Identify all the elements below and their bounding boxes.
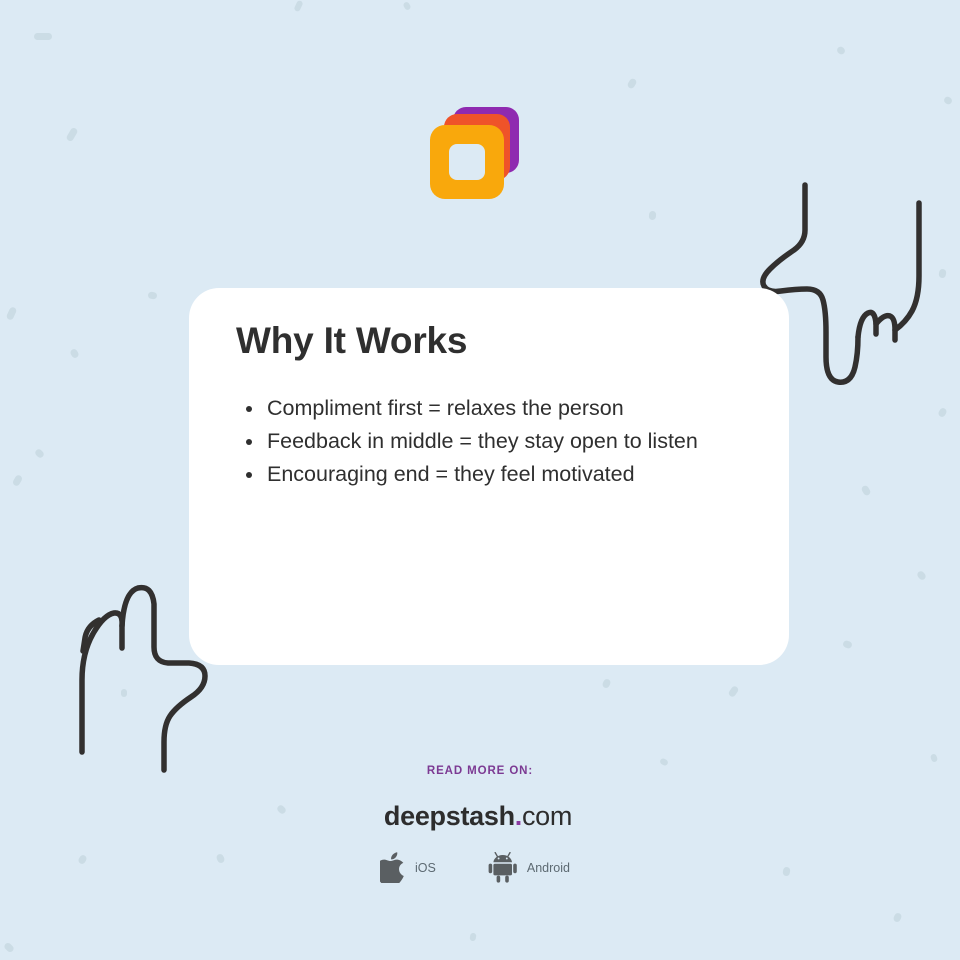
background-speck [943, 95, 954, 105]
background-speck [649, 211, 657, 221]
background-speck [860, 484, 871, 496]
deepstash-logo [425, 103, 525, 198]
background-speck [727, 685, 739, 698]
background-speck [65, 127, 78, 143]
bullet-list: Compliment first = relaxes the person Fe… [237, 392, 772, 491]
ios-badge[interactable]: iOS [380, 852, 436, 883]
background-speck [3, 941, 15, 953]
list-item: Compliment first = relaxes the person [267, 392, 772, 425]
background-speck [626, 77, 637, 89]
brand-wordmark[interactable]: deepstash.com [0, 801, 960, 832]
background-speck [916, 570, 927, 581]
page-title: Why It Works [236, 321, 467, 362]
list-item: Feedback in middle = they stay open to l… [267, 425, 772, 458]
background-speck [12, 474, 24, 487]
list-item: Encouraging end = they feel motivated [267, 458, 772, 491]
background-speck [34, 448, 45, 459]
brand-tld: com [522, 801, 572, 831]
apple-icon [380, 852, 406, 883]
read-more-label: READ MORE ON: [0, 765, 960, 777]
content-card: Why It Works Compliment first = relaxes … [189, 288, 789, 665]
android-icon [488, 852, 518, 883]
android-badge-label: Android [527, 861, 570, 875]
background-speck [34, 33, 52, 40]
background-speck [938, 268, 946, 278]
background-speck [402, 1, 411, 11]
background-speck [6, 306, 18, 321]
background-speck [836, 45, 847, 56]
footer: READ MORE ON: deepstash.com iOS [0, 765, 960, 883]
hand-pointing-up-illustration [18, 552, 218, 782]
background-speck [469, 933, 476, 942]
brand-dot: . [515, 801, 522, 831]
background-speck [147, 291, 157, 299]
logo-inner-cutout [449, 144, 485, 180]
background-speck [293, 0, 303, 12]
slide-canvas: Why It Works Compliment first = relaxes … [0, 0, 960, 960]
background-speck [601, 678, 611, 689]
background-speck [842, 640, 853, 650]
background-speck [121, 689, 127, 697]
brand-name: deepstash [384, 801, 515, 831]
background-speck [930, 753, 938, 763]
store-badges: iOS Android [0, 852, 960, 883]
background-speck [892, 912, 902, 923]
background-speck [69, 348, 80, 359]
background-speck [937, 407, 948, 418]
ios-badge-label: iOS [415, 861, 436, 875]
android-badge[interactable]: Android [488, 852, 570, 883]
